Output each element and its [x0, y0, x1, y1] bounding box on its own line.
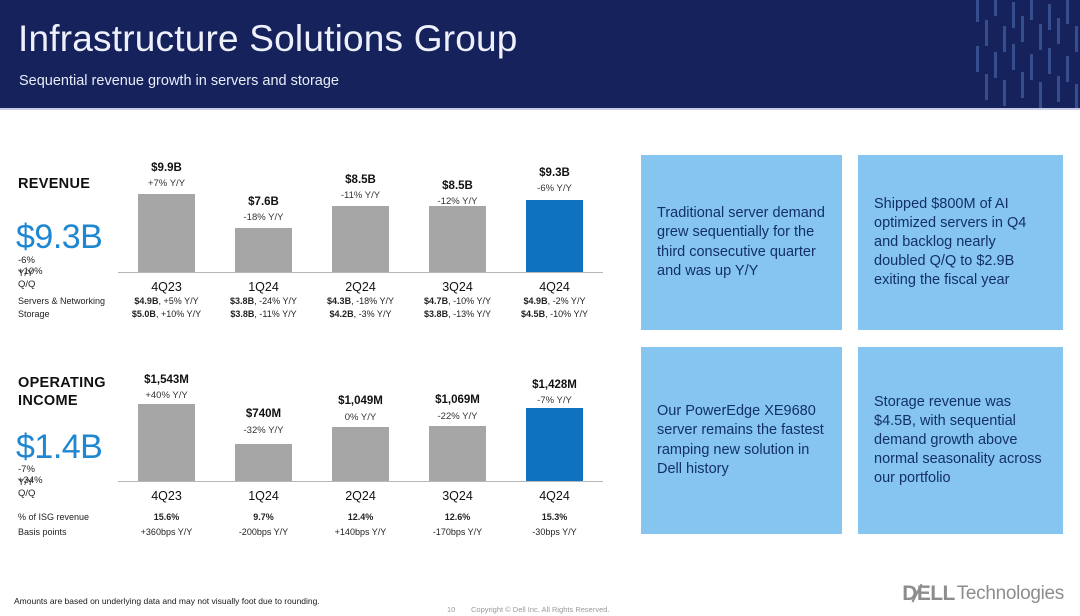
revenue-cell-storage-3: $3.8B, -13% Y/Y: [409, 309, 506, 319]
revenue-bar-yoy-4: -6% Y/Y: [506, 183, 603, 194]
oi-bar-value-1: $740M: [215, 408, 312, 420]
revenue-row-label-0: Servers & Networking: [18, 296, 105, 306]
callout-traditional-server: Traditional server demand grew sequentia…: [641, 155, 842, 330]
oi-bar-yoy-3: -22% Y/Y: [409, 411, 506, 422]
oi-bar-yoy-4: -7% Y/Y: [506, 395, 603, 406]
revenue-cell-storage-1-value: $3.8B: [230, 309, 254, 319]
oi-category-2: 2Q24: [312, 489, 409, 503]
revenue-bar-2: [332, 206, 389, 272]
page-number: 10: [447, 605, 455, 614]
header-decorative-pattern: [970, 0, 1080, 108]
revenue-cell-storage-2-yoy: -3% Y/Y: [359, 309, 392, 319]
revenue-bar-value-2: $8.5B: [312, 174, 409, 186]
page-subtitle: Sequential revenue growth in servers and…: [19, 73, 339, 89]
revenue-bar-0: [138, 194, 195, 272]
oi-category-1: 1Q24: [215, 489, 312, 503]
callout-ai-servers: Shipped $800M of AI optimized servers in…: [858, 155, 1063, 330]
revenue-cell-servers-2-value: $4.3B: [327, 296, 351, 306]
revenue-category-2: 2Q24: [312, 280, 409, 294]
oi-cell-bps-3: -170bps Y/Y: [409, 527, 506, 537]
operating-income-label-line2: INCOME: [18, 392, 78, 410]
operating-income-delta-qq: +34% Q/Q: [18, 475, 43, 501]
oi-cell-bps-0: +360bps Y/Y: [118, 527, 215, 537]
operating-income-label-line1: OPERATING: [18, 374, 106, 392]
revenue-category-4: 4Q24: [506, 280, 603, 294]
revenue-cell-servers-2: $4.3B, -18% Y/Y: [312, 296, 409, 306]
revenue-cell-servers-2-yoy: -18% Y/Y: [356, 296, 394, 306]
revenue-cell-storage-0: $5.0B, +10% Y/Y: [118, 309, 215, 319]
operating-income-bar-chart: $1,543M +40% Y/Y $740M -32% Y/Y $1,049M …: [118, 370, 603, 510]
revenue-bar-yoy-0: +7% Y/Y: [118, 178, 215, 189]
dell-technologies-logo: DELL Technologies: [902, 582, 1064, 606]
callout-poweredge-text: Our PowerEdge XE9680 server remains the …: [641, 402, 842, 479]
revenue-category-3: 3Q24: [409, 280, 506, 294]
oi-category-4: 4Q24: [506, 489, 603, 503]
revenue-bar-4: [526, 200, 583, 272]
oi-cell-bps-1: -200bps Y/Y: [215, 527, 312, 537]
oi-bar-yoy-2: 0% Y/Y: [312, 412, 409, 423]
revenue-bar-yoy-2: -11% Y/Y: [312, 190, 409, 201]
oi-bar-3: [429, 426, 486, 481]
revenue-headline-value: $9.3B: [16, 218, 102, 257]
revenue-bar-value-4: $9.3B: [506, 167, 603, 179]
revenue-cell-servers-1: $3.8B, -24% Y/Y: [215, 296, 312, 306]
oi-bar-value-4: $1,428M: [506, 379, 603, 391]
oi-cell-pct-1: 9.7%: [215, 512, 312, 522]
revenue-cell-servers-0-yoy: +5% Y/Y: [163, 296, 198, 306]
oi-cell-pct-4: 15.3%: [506, 512, 603, 522]
copyright-text: Copyright © Dell Inc. All Rights Reserve…: [471, 605, 610, 614]
revenue-category-1: 1Q24: [215, 280, 312, 294]
revenue-category-0: 4Q23: [118, 280, 215, 294]
callout-poweredge: Our PowerEdge XE9680 server remains the …: [641, 347, 842, 534]
oi-bar-value-0: $1,543M: [118, 374, 215, 386]
revenue-cell-servers-0-value: $4.9B: [134, 296, 158, 306]
oi-bar-1: [235, 444, 292, 481]
callout-storage: Storage revenue was $4.5B, with sequenti…: [858, 347, 1063, 534]
revenue-chart-axis: [118, 272, 603, 273]
callout-storage-text: Storage revenue was $4.5B, with sequenti…: [858, 393, 1063, 489]
revenue-cell-servers-4: $4.9B, -2% Y/Y: [506, 296, 603, 306]
technologies-wordmark: Technologies: [957, 583, 1064, 605]
revenue-row-label-1: Storage: [18, 309, 50, 319]
revenue-cell-servers-4-yoy: -2% Y/Y: [553, 296, 586, 306]
revenue-cell-storage-4: $4.5B, -10% Y/Y: [506, 309, 603, 319]
revenue-bar-chart: $9.9B +7% Y/Y $7.6B -18% Y/Y $8.5B -11% …: [118, 150, 603, 295]
revenue-cell-storage-0-yoy: +10% Y/Y: [161, 309, 201, 319]
revenue-cell-storage-2: $4.2B, -3% Y/Y: [312, 309, 409, 319]
revenue-cell-servers-4-value: $4.9B: [524, 296, 548, 306]
revenue-cell-storage-1-yoy: -11% Y/Y: [259, 309, 296, 319]
revenue-cell-storage-0-value: $5.0B: [132, 309, 156, 319]
oi-bar-yoy-1: -32% Y/Y: [215, 425, 312, 436]
slide: Infrastructure Solutions Group Sequentia…: [0, 0, 1080, 616]
revenue-label: REVENUE: [18, 175, 90, 193]
oi-bar-4: [526, 408, 583, 481]
oi-bar-value-2: $1,049M: [312, 395, 409, 407]
operating-income-headline-value: $1.4B: [16, 428, 102, 467]
revenue-cell-servers-3: $4.7B, -10% Y/Y: [409, 296, 506, 306]
revenue-cell-storage-4-yoy: -10% Y/Y: [550, 309, 588, 319]
oi-category-0: 4Q23: [118, 489, 215, 503]
revenue-cell-storage-1: $3.8B, -11% Y/Y: [215, 309, 312, 319]
oi-cell-pct-2: 12.4%: [312, 512, 409, 522]
dell-wordmark: DELL: [902, 582, 954, 606]
slide-header: Infrastructure Solutions Group Sequentia…: [0, 0, 1080, 110]
revenue-bar-value-1: $7.6B: [215, 196, 312, 208]
revenue-cell-storage-3-value: $3.8B: [424, 309, 448, 319]
revenue-cell-storage-3-yoy: -13% Y/Y: [453, 309, 491, 319]
oi-cell-bps-4: -30bps Y/Y: [506, 527, 603, 537]
revenue-cell-servers-1-yoy: -24% Y/Y: [259, 296, 297, 306]
oi-row-label-0: % of ISG revenue: [18, 512, 89, 522]
revenue-cell-servers-1-value: $3.8B: [230, 296, 254, 306]
revenue-delta-qq: +10% Q/Q: [18, 266, 43, 292]
oi-cell-bps-2: +140bps Y/Y: [312, 527, 409, 537]
oi-bar-2: [332, 427, 389, 481]
revenue-cell-servers-3-yoy: -10% Y/Y: [453, 296, 491, 306]
page-title: Infrastructure Solutions Group: [18, 20, 518, 59]
operating-income-chart-axis: [118, 481, 603, 482]
oi-category-3: 3Q24: [409, 489, 506, 503]
revenue-cell-storage-2-value: $4.2B: [330, 309, 354, 319]
revenue-bar-1: [235, 228, 292, 272]
oi-bar-yoy-0: +40% Y/Y: [118, 390, 215, 401]
revenue-cell-servers-3-value: $4.7B: [424, 296, 448, 306]
revenue-cell-storage-4-value: $4.5B: [521, 309, 545, 319]
callout-ai-servers-text: Shipped $800M of AI optimized servers in…: [858, 195, 1063, 291]
revenue-bar-yoy-1: -18% Y/Y: [215, 212, 312, 223]
dell-wordmark-text: DELL: [902, 582, 954, 605]
revenue-cell-servers-0: $4.9B, +5% Y/Y: [118, 296, 215, 306]
oi-cell-pct-0: 15.6%: [118, 512, 215, 522]
revenue-bar-value-0: $9.9B: [118, 162, 215, 174]
oi-row-label-1: Basis points: [18, 527, 67, 537]
oi-bar-0: [138, 404, 195, 481]
revenue-bar-3: [429, 206, 486, 272]
revenue-bar-value-3: $8.5B: [409, 180, 506, 192]
callout-traditional-server-text: Traditional server demand grew sequentia…: [641, 204, 842, 281]
footnote: Amounts are based on underlying data and…: [14, 596, 320, 606]
oi-bar-value-3: $1,069M: [409, 394, 506, 406]
oi-cell-pct-3: 12.6%: [409, 512, 506, 522]
